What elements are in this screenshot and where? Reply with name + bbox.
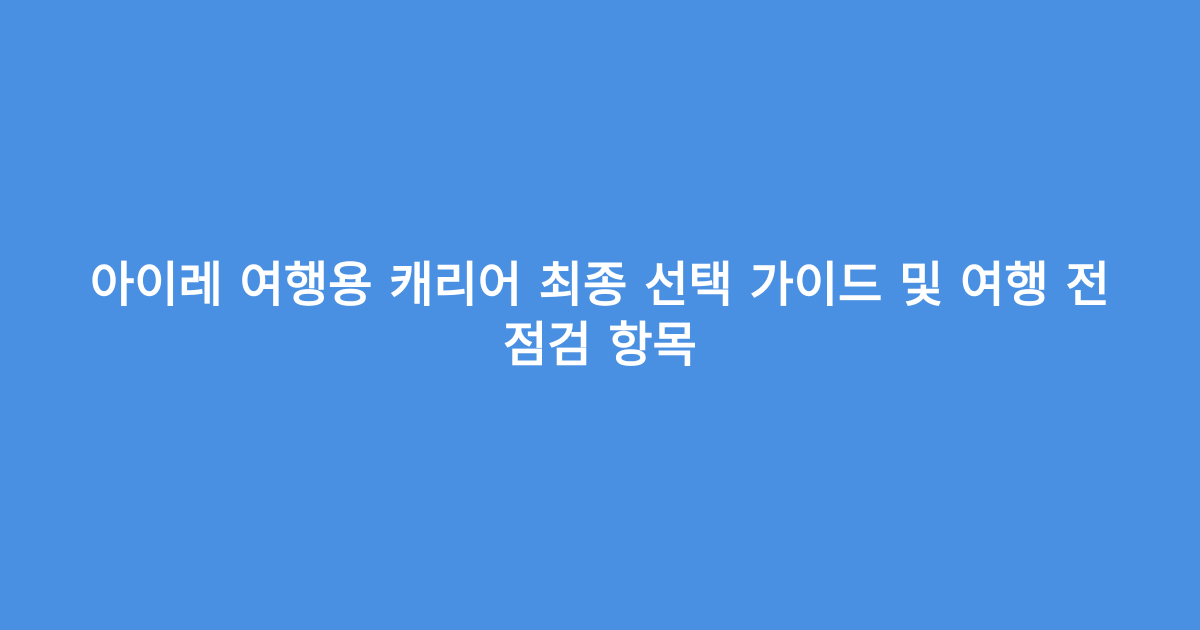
page-title: 아이레 여행용 캐리어 최종 선택 가이드 및 여행 전 점검 항목	[68, 255, 1132, 375]
og-card: 아이레 여행용 캐리어 최종 선택 가이드 및 여행 전 점검 항목	[0, 0, 1200, 630]
title-block: 아이레 여행용 캐리어 최종 선택 가이드 및 여행 전 점검 항목	[0, 255, 1200, 375]
